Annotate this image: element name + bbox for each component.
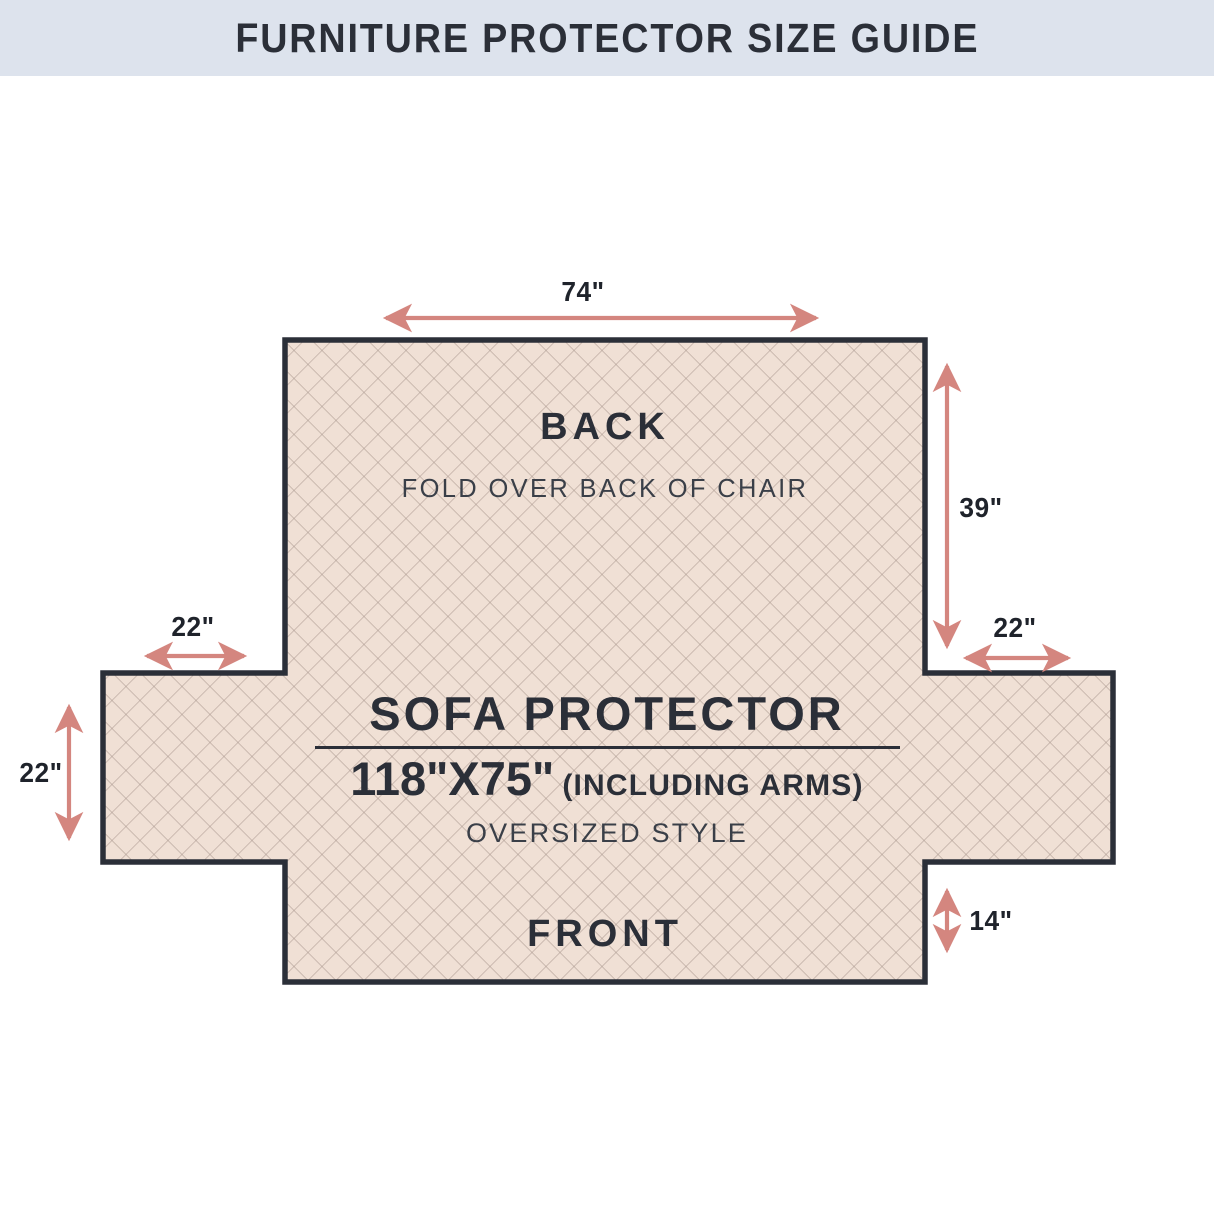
region-sublabel-back: FOLD OVER BACK OF CHAIR <box>291 473 918 504</box>
dimension-label-left-arm-height: 22" <box>19 757 62 789</box>
center-info-block: SOFA PROTECTOR 118"X75"(INCLUDING ARMS) … <box>233 690 981 849</box>
dimension-label-back-height: 39" <box>959 492 1002 524</box>
region-label-back: BACK <box>285 406 925 449</box>
title-divider <box>315 746 900 749</box>
dimension-label-right-arm-width: 22" <box>993 612 1036 644</box>
product-size: 118"X75" <box>350 752 554 805</box>
product-title: SOFA PROTECTOR <box>233 690 981 737</box>
dimension-label-top-width: 74" <box>561 276 604 308</box>
dimension-label-left-arm-width: 22" <box>171 611 214 643</box>
diagram-stage: BACK FOLD OVER BACK OF CHAIR SOFA PROTEC… <box>0 0 1214 1214</box>
dimension-label-front-height: 14" <box>969 905 1012 937</box>
size-guide-page: FURNITURE PROTECTOR SIZE GUIDE <box>0 0 1214 1214</box>
product-style: OVERSIZED STYLE <box>233 818 981 849</box>
region-label-front: FRONT <box>285 913 925 956</box>
product-size-note: (INCLUDING ARMS) <box>562 769 863 802</box>
product-size-row: 118"X75"(INCLUDING ARMS) <box>233 755 981 802</box>
protector-diagram-svg <box>0 0 1214 1214</box>
